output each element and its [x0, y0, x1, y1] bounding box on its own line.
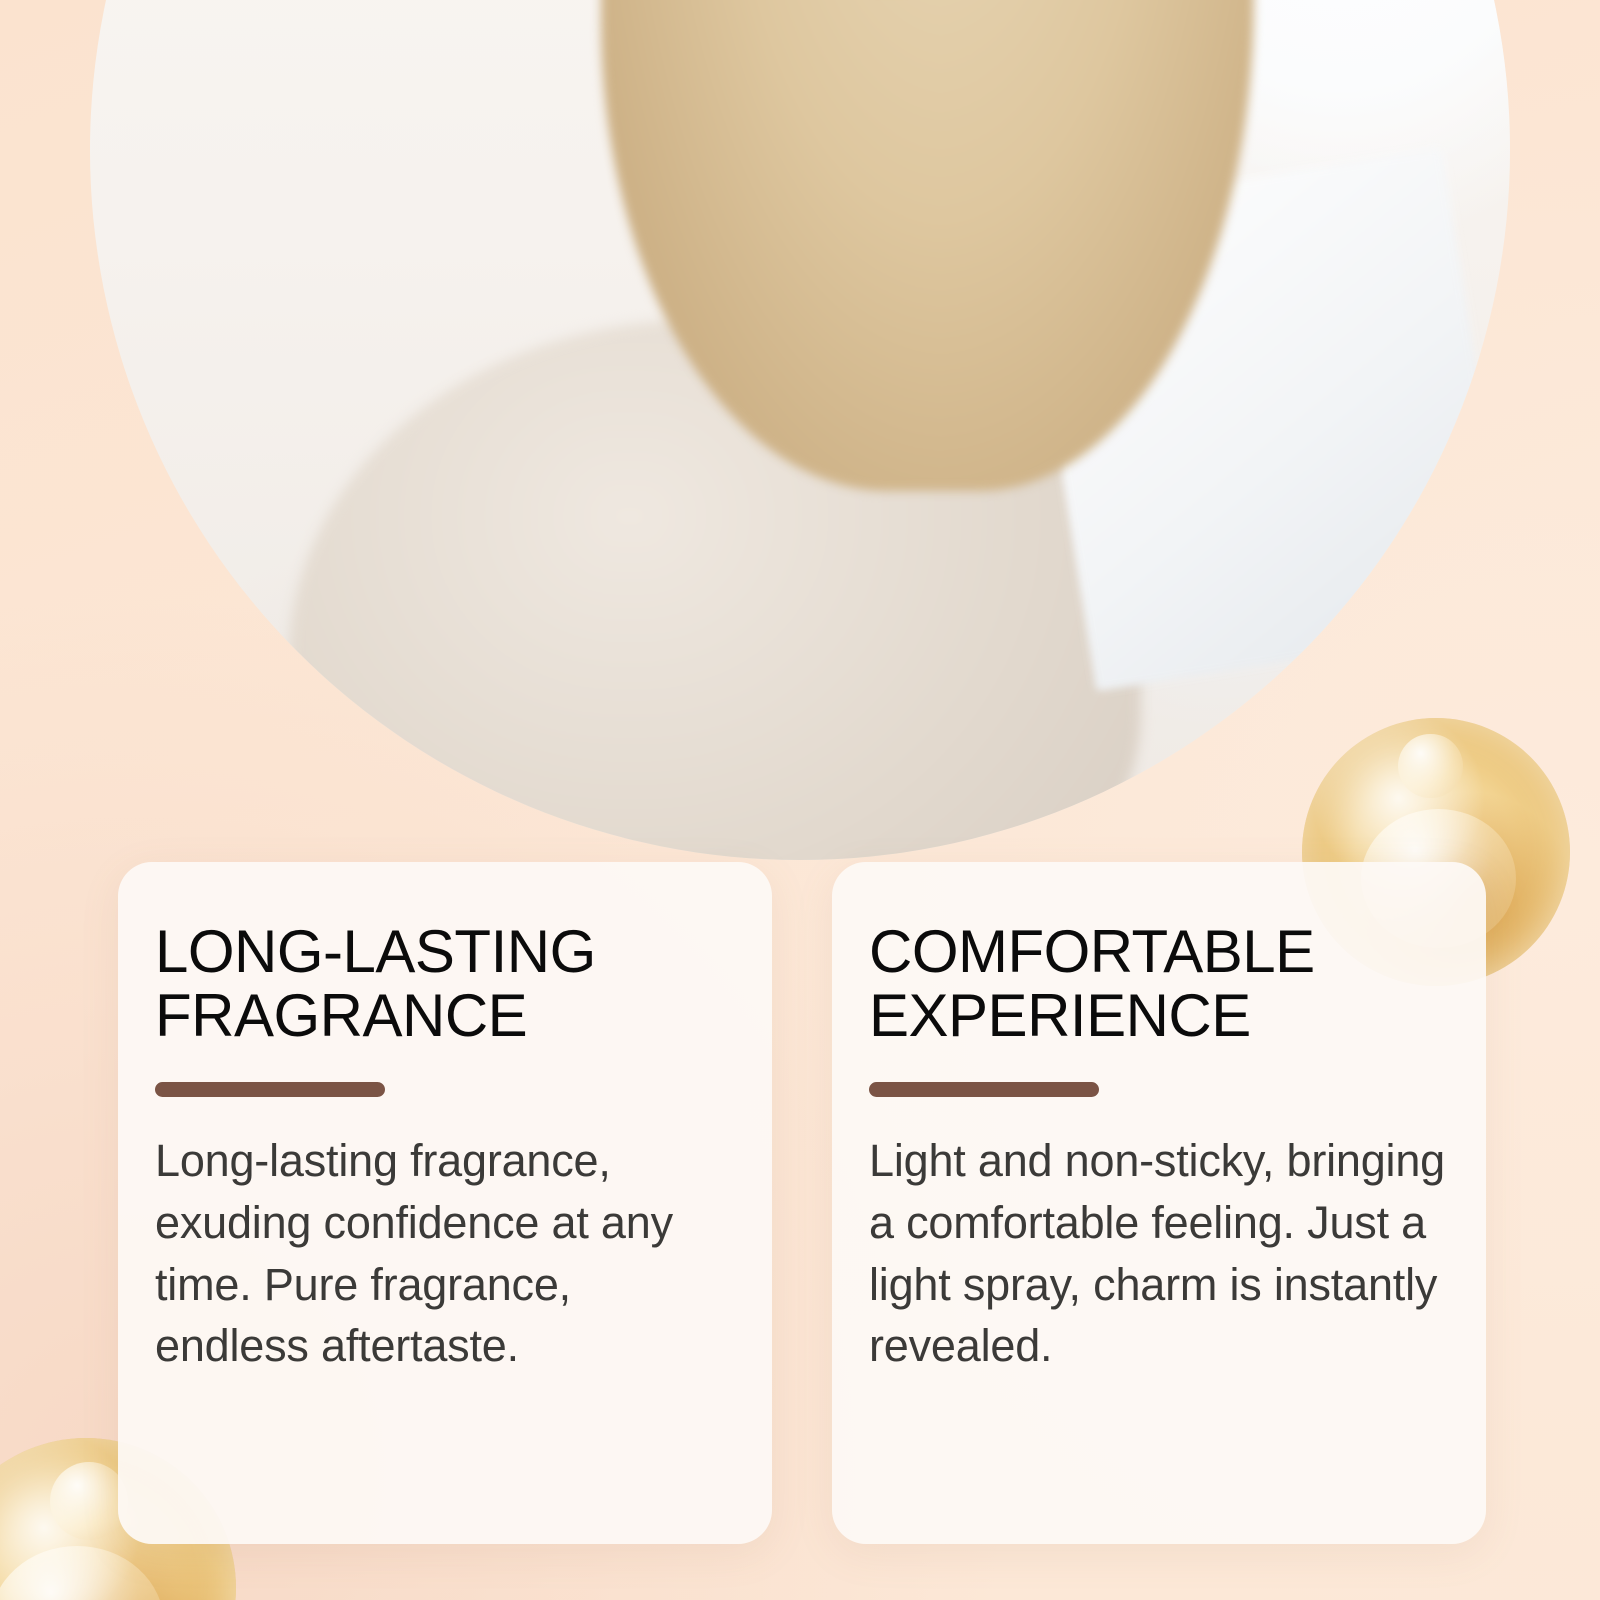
hero-photo [90, 0, 1510, 860]
feature-card-divider [155, 1082, 385, 1097]
droplet-bubble [1398, 734, 1462, 798]
feature-card-body: Light and non-sticky, bringing a comfort… [869, 1130, 1446, 1377]
feature-card-divider [869, 1082, 1099, 1097]
feature-card-long-lasting-fragrance: LONG-LASTING FRAGRANCE Long-lasting frag… [118, 862, 772, 1544]
hero-image-circle [90, 0, 1510, 860]
droplet-bubble [50, 1462, 128, 1540]
feature-card-body: Long-lasting fragrance, exuding confiden… [155, 1130, 732, 1377]
droplet-bubble [0, 1546, 164, 1600]
feature-card-title: LONG-LASTING FRAGRANCE [155, 920, 732, 1048]
feature-card-title: COMFORTABLE EXPERIENCE [869, 920, 1446, 1048]
feature-card-comfortable-experience: COMFORTABLE EXPERIENCE Light and non-sti… [832, 862, 1486, 1544]
promo-banner: LONG-LASTING FRAGRANCE Long-lasting frag… [0, 0, 1600, 1600]
